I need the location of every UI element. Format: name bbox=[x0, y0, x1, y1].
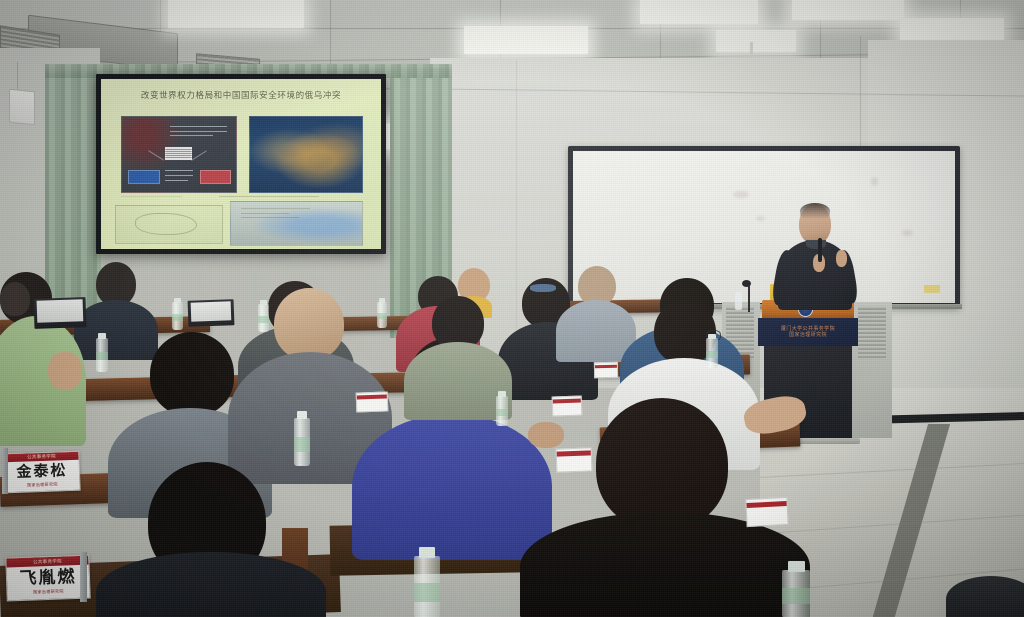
presenter-hair bbox=[800, 203, 830, 219]
attendee-hairclip bbox=[530, 284, 556, 292]
nameplate-stand bbox=[2, 448, 8, 494]
slide-panel-outline-map bbox=[115, 205, 223, 244]
attendee-head bbox=[596, 398, 728, 530]
attendee-head bbox=[0, 282, 30, 316]
nameplate: 公共事务学院 飞胤燃 国家治理研究院 bbox=[5, 555, 90, 602]
ceiling-light bbox=[464, 26, 588, 54]
table-card bbox=[745, 497, 788, 527]
attendee-torso bbox=[520, 512, 810, 617]
wall-speaker bbox=[9, 89, 35, 126]
water-bottle[interactable] bbox=[496, 396, 508, 426]
water-bottle[interactable] bbox=[172, 302, 183, 330]
table-card bbox=[356, 391, 389, 412]
water-bottle[interactable] bbox=[706, 338, 718, 368]
microphone-head bbox=[742, 280, 751, 287]
attendee-shoulder-right-edge bbox=[946, 576, 1024, 617]
slide-panel-night-satellite-map bbox=[249, 116, 363, 193]
laptop[interactable] bbox=[33, 297, 86, 329]
nameplate-subtext: 国家治理研究院 bbox=[5, 481, 79, 490]
table-card bbox=[552, 395, 583, 416]
attendee-arm bbox=[48, 352, 82, 390]
attendee-torso-blue bbox=[352, 414, 552, 560]
nameplate-stand bbox=[80, 552, 87, 602]
attendee-torso bbox=[74, 300, 158, 360]
nameplate-band: 公共事务学院 bbox=[6, 556, 88, 568]
attendee-head-bald bbox=[274, 288, 344, 360]
attendee-head bbox=[150, 332, 234, 416]
water-bottle[interactable] bbox=[294, 418, 310, 466]
water-bottle[interactable] bbox=[377, 302, 387, 328]
slide-red-label bbox=[200, 170, 232, 185]
microphone-stand bbox=[748, 286, 750, 312]
slide-panel-geopolitics-diagram bbox=[121, 116, 238, 193]
slide-title: 改变世界权力格局和中国国际安全环境的俄乌冲突 bbox=[112, 89, 370, 101]
projection-screen: 改变世界权力格局和中国国际安全环境的俄乌冲突 bbox=[101, 79, 381, 249]
nameplate-name: 飞胤燃 bbox=[19, 568, 77, 587]
podium-right-mesh bbox=[858, 306, 886, 358]
water-bottle[interactable] bbox=[782, 570, 810, 617]
podium-plaque-line2: 国家治理研究院 bbox=[789, 332, 827, 338]
sticky-note bbox=[924, 285, 940, 293]
nameplate-name: 金泰松 bbox=[16, 463, 68, 480]
attendee-hand bbox=[528, 422, 564, 448]
slide-panel-region-chart bbox=[230, 201, 364, 246]
table-card bbox=[594, 362, 618, 378]
speaker-wire bbox=[17, 62, 18, 90]
nameplate: 公共事务学院 金泰松 国家治理研究院 bbox=[3, 451, 80, 494]
laptop[interactable] bbox=[188, 299, 235, 327]
water-bottle[interactable] bbox=[258, 304, 269, 332]
us-flag-graphic bbox=[165, 147, 192, 159]
lecture-hall-photo: 改变世界权力格局和中国国际安全环境的俄乌冲突 bbox=[0, 0, 1024, 617]
ceiling-light bbox=[640, 0, 758, 24]
podium-plaque: 厦门大学公共事务学院 国家治理研究院 bbox=[758, 318, 858, 346]
ceiling-light bbox=[900, 18, 1004, 42]
handheld-microphone bbox=[818, 238, 822, 262]
presenter-collar bbox=[806, 240, 826, 249]
water-bottle[interactable] bbox=[414, 556, 440, 617]
table-card bbox=[556, 447, 593, 472]
ceiling-light bbox=[792, 0, 904, 20]
nameplate-subtext: 国家治理研究院 bbox=[7, 588, 89, 597]
whiteboard bbox=[573, 151, 955, 303]
water-bottle[interactable] bbox=[96, 338, 108, 372]
podium-water-bottle bbox=[735, 292, 742, 310]
slide-blue-label bbox=[128, 170, 160, 185]
ceiling-light bbox=[168, 0, 304, 28]
ceiling-light bbox=[716, 30, 796, 52]
nameplate-band: 公共事务学院 bbox=[4, 452, 78, 463]
presenter-gesturing-hand bbox=[836, 250, 847, 267]
